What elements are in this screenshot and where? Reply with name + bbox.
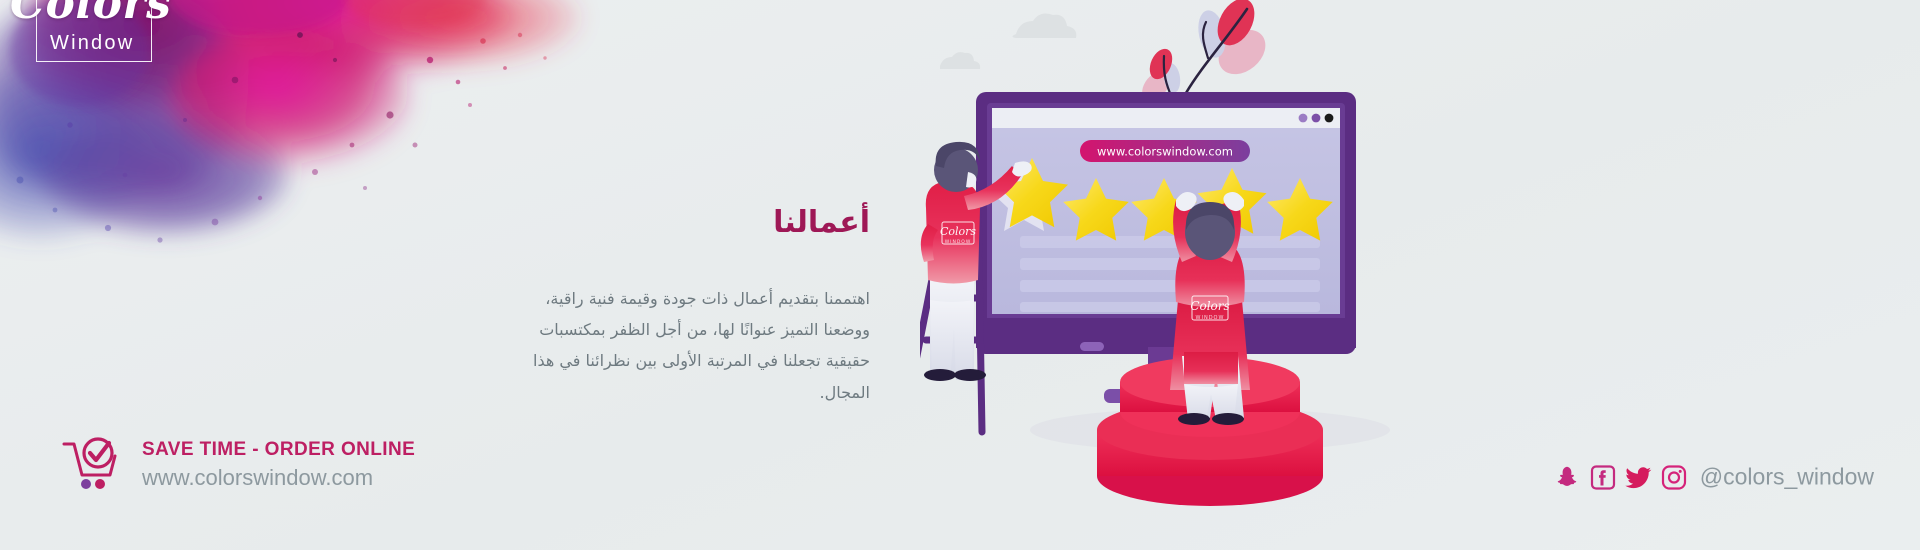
cta-url[interactable]: www.colorswindow.com: [142, 465, 415, 491]
shopping-cart-check-icon: [62, 437, 124, 493]
shoe-left: [924, 369, 956, 381]
social-links[interactable]: @colors_window: [1555, 464, 1874, 491]
browser-url-text: www.colorswindow.com: [1097, 145, 1233, 159]
svg-text:Colors: Colors: [1190, 299, 1229, 313]
body-paragraph: اهتممنا بتقديم أعمال ذات جودة وقيمة فنية…: [520, 283, 870, 408]
shoe-right: [954, 369, 986, 381]
logo-subtitle: Window: [50, 32, 210, 55]
instagram-icon[interactable]: [1661, 464, 1687, 490]
shirt-logo-left: Colors WINDOW: [940, 222, 976, 245]
illustration-svg: www.colorswindow.com: [920, 0, 1480, 550]
cta-title: SAVE TIME - ORDER ONLINE: [142, 439, 415, 461]
monitor: www.colorswindow.com: [976, 92, 1356, 403]
browser-dot-1: [1299, 114, 1308, 123]
browser-dot-2: [1312, 114, 1321, 123]
facebook-icon[interactable]: [1590, 464, 1616, 490]
promotional-banner: Colors Window أعمالنا اهتممنا بتقديم أعم…: [0, 0, 1920, 550]
cloud-icons: [940, 13, 1076, 69]
social-handle: @colors_window: [1700, 464, 1874, 491]
monitor-led: [1080, 342, 1104, 351]
twitter-icon[interactable]: [1625, 464, 1652, 490]
copy-column: أعمالنا اهتممنا بتقديم أعمال ذات جودة وق…: [520, 205, 870, 408]
order-online-cta[interactable]: SAVE TIME - ORDER ONLINE www.colorswindo…: [62, 437, 415, 493]
shoe-left-2: [1178, 413, 1210, 425]
logo-name: Colors: [10, 0, 190, 29]
powder-splash-graphic: Colors Window: [0, 0, 600, 270]
hero-illustration: www.colorswindow.com: [920, 0, 1480, 550]
shoe-right-2: [1212, 413, 1244, 425]
page-title: أعمالنا: [520, 205, 870, 241]
svg-text:WINDOW: WINDOW: [1196, 315, 1225, 321]
snapchat-icon[interactable]: [1555, 464, 1581, 490]
shirt-logo-right: Colors WINDOW: [1190, 296, 1229, 321]
plant-sprig-right: [1186, 0, 1274, 93]
browser-dot-3: [1325, 114, 1334, 123]
svg-text:WINDOW: WINDOW: [945, 239, 972, 245]
svg-text:Colors: Colors: [940, 225, 976, 238]
